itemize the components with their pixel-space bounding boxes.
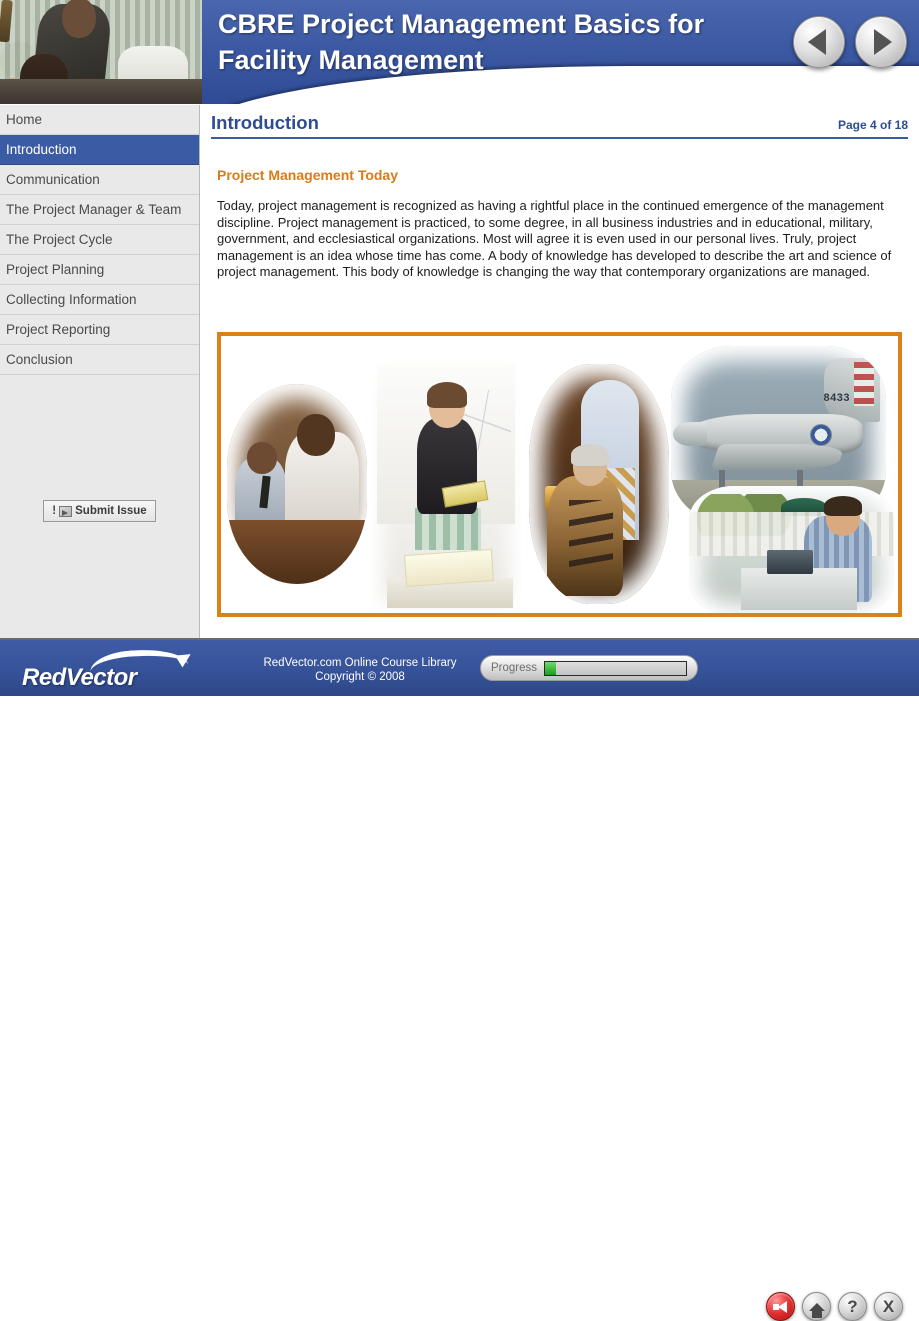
- progress-indicator[interactable]: Progress: [480, 655, 698, 681]
- header-bar: CBRE Project Management Basics for Facil…: [0, 0, 919, 104]
- content-image-collage: 8433: [217, 332, 902, 617]
- audio-label-line-1: Audio:: [718, 1292, 764, 1306]
- speaker-muted-icon: [773, 1301, 788, 1313]
- back-button[interactable]: [793, 16, 845, 68]
- collage-vignette-man-at-laptop: [689, 486, 894, 616]
- report-icon: [59, 506, 72, 517]
- close-icon: X: [883, 1298, 894, 1315]
- sidebar-item-collecting-information[interactable]: Collecting Information: [0, 285, 199, 315]
- course-player: CBRE Project Management Basics for Facil…: [0, 0, 919, 696]
- page-title: Introduction: [211, 112, 319, 134]
- jet-wing: [711, 444, 845, 470]
- question-mark-icon: ?: [847, 1298, 857, 1315]
- content-header: Introduction Page 4 of 18: [211, 112, 908, 139]
- audio-toggle-button[interactable]: [766, 1292, 795, 1321]
- content-body-text: Today, project management is recognized …: [217, 198, 901, 281]
- sidebar-item-home[interactable]: Home: [0, 105, 199, 135]
- collage-vignette-teacher: [371, 356, 521, 611]
- laptop-user-hair: [824, 496, 862, 516]
- sidebar-navigation: Home Introduction Communication The Proj…: [0, 105, 200, 638]
- clergy-robe-stripes: [569, 500, 613, 570]
- header-photo: [0, 0, 202, 104]
- patio-table: [741, 568, 857, 610]
- sidebar-item-introduction[interactable]: Introduction: [0, 135, 199, 165]
- clergy-hair: [571, 444, 609, 466]
- submit-issue-container: ! Submit Issue: [0, 500, 199, 522]
- teacher-hair: [427, 382, 467, 408]
- teacher-skirt: [415, 508, 481, 550]
- sidebar-item-project-planning[interactable]: Project Planning: [0, 255, 199, 285]
- jet-nose: [673, 422, 707, 446]
- jet-roundel-insignia: [810, 424, 832, 446]
- content-subheading: Project Management Today: [217, 167, 398, 183]
- submit-issue-button[interactable]: ! Submit Issue: [43, 500, 155, 522]
- footer-controls: ? X: [766, 1292, 903, 1321]
- jet-tail-number: 8433: [824, 392, 850, 404]
- laptop-icon: [767, 550, 813, 574]
- meeting-person-right-head: [297, 414, 335, 456]
- page-indicator: Page 4 of 18: [838, 118, 908, 132]
- submit-issue-label: Submit Issue: [75, 505, 147, 517]
- sidebar-item-conclusion[interactable]: Conclusion: [0, 345, 199, 375]
- exclamation-icon: !: [52, 505, 56, 517]
- home-button[interactable]: [802, 1292, 831, 1321]
- meeting-table: [227, 520, 367, 584]
- sidebar-item-project-cycle[interactable]: The Project Cycle: [0, 225, 199, 255]
- sidebar-item-project-manager-team[interactable]: The Project Manager & Team: [0, 195, 199, 225]
- photo-desk: [0, 79, 202, 104]
- copyright-line-1: RedVector.com Online Course Library: [240, 656, 480, 670]
- back-arrow-icon: [808, 29, 826, 55]
- stacked-papers: [404, 549, 494, 587]
- copyright-line-2: Copyright © 2008: [240, 670, 480, 684]
- jet-tail-stripes: [854, 362, 874, 406]
- collage-vignette-clergy: [529, 364, 669, 604]
- audio-label-line-2: Off: [718, 1306, 764, 1320]
- main-content: Introduction Page 4 of 18 Project Manage…: [201, 105, 919, 638]
- help-button[interactable]: ?: [838, 1292, 867, 1321]
- forward-button[interactable]: [855, 16, 907, 68]
- photo-standing-man-head: [62, 0, 96, 38]
- navigation-arrows: [793, 16, 907, 68]
- progress-track: [544, 661, 687, 676]
- course-title: CBRE Project Management Basics for Facil…: [218, 6, 778, 78]
- meeting-person-left-head: [247, 442, 277, 474]
- copyright-text: RedVector.com Online Course Library Copy…: [240, 656, 480, 684]
- audio-status-label: Audio: Off: [718, 1292, 764, 1320]
- logo-wordmark: RedVector: [22, 664, 137, 692]
- redvector-logo: RedVector: [18, 650, 188, 692]
- footer-bar: RedVector RedVector.com Online Course Li…: [0, 638, 919, 696]
- home-icon: [809, 1303, 825, 1311]
- sidebar-item-communication[interactable]: Communication: [0, 165, 199, 195]
- forward-arrow-icon: [874, 29, 892, 55]
- collage-vignette-business-meeting: [227, 384, 367, 584]
- progress-label: Progress: [491, 662, 537, 674]
- close-button[interactable]: X: [874, 1292, 903, 1321]
- progress-fill: [545, 662, 556, 675]
- sidebar-item-project-reporting[interactable]: Project Reporting: [0, 315, 199, 345]
